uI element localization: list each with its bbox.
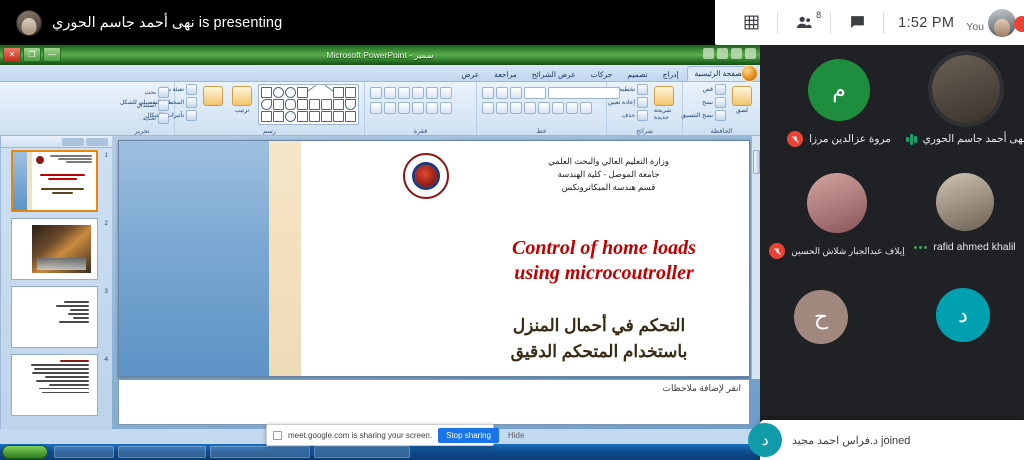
group-label-font: خط	[477, 127, 606, 135]
share-screen-icon	[273, 431, 282, 440]
cut-label: قص	[703, 86, 713, 93]
reset-icon	[637, 97, 648, 108]
quick-styles-icon	[203, 86, 223, 106]
copy-button[interactable]: نسخ	[681, 97, 726, 108]
thumbnail-card	[11, 286, 98, 348]
participant-name-row: نهى أحمد جاسم الحوري	[906, 133, 1024, 145]
ribbon-tabs: الصفحة الرئيسية إدراج تصميم حركات عرض ال…	[0, 65, 760, 82]
participant-tile-4[interactable]: rafid ahmed khalil	[906, 173, 1024, 253]
people-icon[interactable]: 8	[778, 0, 830, 45]
quick-styles-button[interactable]	[200, 84, 226, 115]
join-notification-toast: د د.فراس احمد مجيد joined	[760, 420, 1024, 460]
shapes-gallery[interactable]	[258, 84, 359, 125]
presenter-avatar	[16, 10, 42, 36]
outline-slides-tabs[interactable]	[1, 136, 112, 148]
canvas-scrollbar[interactable]	[751, 136, 760, 379]
avatar: ح	[794, 290, 848, 344]
tab-review[interactable]: مراجعة	[487, 68, 524, 81]
slide-thumbnail-pane: 1 2	[0, 136, 112, 429]
taskbar-item[interactable]	[314, 446, 410, 458]
find-icon	[158, 87, 169, 98]
participant-name: نهى أحمد جاسم الحوري	[923, 133, 1024, 145]
ribbon: لصق قص نسخ	[0, 82, 760, 136]
avatar	[936, 173, 994, 231]
taskbar-item[interactable]	[118, 446, 206, 458]
reset-label: إعادة تعيين	[608, 99, 635, 106]
underline-icon[interactable]	[552, 102, 564, 114]
slide-side-band	[119, 141, 269, 376]
you-label: You	[966, 21, 984, 37]
presenting-label: نهى أحمد جاسم الحوري is presenting	[52, 15, 282, 31]
shadow-icon[interactable]	[538, 102, 550, 114]
group-label-editing: تحرير	[110, 127, 174, 135]
slide-thumbnail-4[interactable]: 4	[11, 354, 108, 416]
format-painter-icon	[715, 110, 726, 121]
bullets-icon[interactable]	[440, 87, 452, 99]
recording-dot	[1014, 16, 1024, 32]
justify-icon[interactable]	[398, 102, 410, 114]
powerpoint-body: وزارة التعليم العالي والبحث العلمي جامعة…	[0, 136, 760, 429]
slide-thumbnail-2[interactable]: 2	[11, 218, 108, 280]
participant-name: مروة عزالدين مرزا	[809, 133, 891, 145]
line-spacing-icon[interactable]	[384, 87, 396, 99]
tab-insert[interactable]: إدراج	[656, 68, 686, 81]
ribbon-group-paragraph: فقرة	[364, 82, 476, 135]
paste-label: لصق	[736, 107, 748, 114]
notes-pane[interactable]: انقر لإضافة ملاحظات	[118, 379, 750, 425]
hide-banner-button[interactable]: Hide	[505, 431, 527, 440]
tab-slideshow[interactable]: عرض الشرائح	[525, 68, 583, 81]
participant-name-row: rafid ahmed khalil	[914, 241, 1015, 253]
thumb-photo	[32, 225, 91, 273]
meeting-time: 1:52 PM	[884, 15, 966, 31]
group-label-clipboard: الحافظة	[683, 127, 760, 135]
avatar-initial: ح	[814, 304, 828, 330]
people-count: 8	[816, 10, 821, 20]
screen-root: نهى أحمد جاسم الحوري is presenting 8	[0, 0, 1024, 460]
slide-canvas-area: وزارة التعليم العالي والبحث العلمي جامعة…	[112, 136, 760, 429]
select-button[interactable]: تحديد	[137, 113, 170, 124]
university-logo-icon	[403, 153, 449, 199]
toast-avatar: د	[748, 423, 782, 457]
slide-header: وزارة التعليم العالي والبحث العلمي جامعة…	[548, 155, 669, 194]
avatar-initial: م	[832, 77, 846, 103]
meet-top-bar: نهى أحمد جاسم الحوري is presenting 8	[0, 0, 1024, 45]
columns-icon[interactable]	[384, 102, 396, 114]
replace-icon	[158, 100, 169, 111]
ribbon-group-font: خط	[476, 82, 606, 135]
redo-icon[interactable]	[717, 48, 728, 59]
find-label: بحث	[145, 89, 156, 96]
slide-thumbnail-1[interactable]: 1	[11, 150, 108, 212]
undo-icon[interactable]	[703, 48, 714, 59]
header-line-3: قسم هندسة الميكاترونكس	[548, 181, 669, 194]
select-label: تحديد	[142, 115, 156, 122]
participants-rail: م مروة عزالدين مرزا نهى أحمد جاسم الحوري…	[760, 45, 1024, 460]
delete-label: حذف	[622, 112, 635, 119]
quick-styles-label	[212, 107, 214, 113]
ribbon-group-drawing: ترتيب تعبئة شكل	[174, 82, 364, 135]
taskbar-item[interactable]	[210, 446, 310, 458]
save-icon[interactable]	[731, 48, 742, 59]
participant-name: إيلاف عبدالجبار شلاش الحسين	[791, 246, 904, 257]
header-line-2: جامعة الموصل - كلية الهندسة	[548, 168, 669, 181]
find-button[interactable]: بحث	[137, 87, 170, 98]
cut-button[interactable]: قص	[681, 84, 726, 95]
align-left-icon[interactable]	[412, 102, 424, 114]
chat-icon[interactable]	[831, 0, 883, 45]
maximize-icon[interactable]: ❐	[23, 47, 41, 62]
avatar: م	[808, 59, 870, 121]
group-label-slides: شرائح	[607, 127, 682, 135]
slide-thumbnail-3[interactable]: 3	[11, 286, 108, 348]
shape-fill-icon	[186, 84, 197, 95]
taskbar-item[interactable]	[54, 446, 114, 458]
ribbon-group-editing: بحث استبدال تحديد تحرير	[110, 82, 174, 135]
thumbnail-card	[11, 354, 98, 416]
powerpoint-window: ✕ ❐ — Microsoft PowerPoint - سمير الصفحة…	[0, 45, 760, 460]
toast-action: joined	[881, 435, 910, 447]
group-label-paragraph: فقرة	[365, 127, 476, 135]
participant-name-row: مروة عزالدين مرزا	[787, 131, 891, 147]
mic-muted-icon	[787, 131, 803, 147]
thumb-logo-icon	[36, 156, 44, 164]
participant-name-row: إيلاف عبدالجبار شلاش الحسين	[769, 243, 904, 259]
participant-tile-5[interactable]: ح	[794, 290, 848, 344]
decrease-indent-icon[interactable]	[412, 87, 424, 99]
tab-view[interactable]: عرض	[454, 68, 486, 81]
participant-tile-2[interactable]: نهى أحمد جاسم الحوري	[908, 55, 1024, 145]
share-banner-text: meet.google.com is sharing your screen.	[288, 431, 432, 440]
arrange-icon	[232, 86, 252, 106]
toast-name: د.فراس احمد مجيد	[792, 435, 878, 447]
header-line-1: وزارة التعليم العالي والبحث العلمي	[548, 155, 669, 168]
bold-icon[interactable]	[580, 102, 592, 114]
thumbnail-number: 2	[101, 218, 108, 227]
participant-tile-1[interactable]: م مروة عزالدين مرزا	[784, 59, 894, 147]
slide-title-english[interactable]: Control of home loads using microcoutrol…	[501, 236, 707, 286]
shape-effects-icon	[186, 110, 197, 121]
avatar-initial: د	[958, 302, 968, 328]
text-direction-icon[interactable]	[370, 87, 382, 99]
ribbon-group-clipboard: لصق قص نسخ	[682, 82, 760, 135]
powerpoint-title-bar: ✕ ❐ — Microsoft PowerPoint - سمير	[0, 45, 760, 65]
slide-content: وزارة التعليم العالي والبحث العلمي جامعة…	[301, 141, 749, 376]
participant-tile-6[interactable]: د	[936, 288, 990, 342]
thumbnail-card	[11, 218, 98, 280]
arrange-button[interactable]: ترتيب	[229, 84, 255, 116]
thumbnail-card	[11, 150, 98, 212]
avatar: د	[936, 288, 990, 342]
new-slide-label: شريحة جديدة	[654, 107, 674, 121]
self-avatar	[988, 9, 1016, 37]
numbering-icon[interactable]	[426, 87, 438, 99]
arrange-label: ترتيب	[235, 107, 249, 114]
delete-slide-button[interactable]: حذف	[608, 110, 648, 121]
new-slide-icon	[654, 86, 674, 106]
avatar	[932, 55, 1000, 123]
thumbnail-number: 4	[101, 354, 108, 363]
self-tile[interactable]: You	[966, 9, 1020, 37]
copy-icon	[715, 97, 726, 108]
avatar	[807, 173, 867, 233]
decrease-font-icon[interactable]	[496, 87, 508, 99]
window-controls: ✕ ❐ —	[3, 47, 61, 62]
convert-smartart-icon[interactable]	[370, 102, 382, 114]
presenting-indicator: نهى أحمد جاسم الحوري is presenting	[0, 10, 282, 36]
close-icon[interactable]: ✕	[3, 47, 21, 62]
cut-icon	[715, 84, 726, 95]
format-painter-button[interactable]: نسخ التنسيق	[681, 110, 726, 121]
new-slide-button[interactable]: شريحة جديدة	[651, 84, 677, 123]
screen-share-banner: meet.google.com is sharing your screen. …	[266, 424, 494, 446]
stop-sharing-button[interactable]: Stop sharing	[438, 428, 499, 443]
speaking-indicator-icon	[906, 133, 917, 145]
select-icon	[158, 113, 169, 124]
increase-font-icon[interactable]	[510, 87, 522, 99]
align-center-icon[interactable]	[426, 102, 438, 114]
mic-muted-icon	[769, 243, 785, 259]
meet-controls: 8 1:52 PM You	[715, 0, 1024, 45]
help-icon[interactable]	[745, 48, 756, 59]
participant-name: rafid ahmed khalil	[933, 241, 1015, 253]
font-color-icon[interactable]	[482, 102, 494, 114]
more-options-icon[interactable]	[914, 246, 927, 249]
copy-label: نسخ	[702, 99, 713, 106]
quick-access-toolbar	[703, 48, 756, 59]
toast-message: د.فراس احمد مجيد joined	[792, 434, 910, 447]
start-button[interactable]	[2, 445, 48, 459]
character-spacing-icon[interactable]	[510, 102, 522, 114]
thumbnail-number: 3	[101, 286, 108, 295]
minimize-icon[interactable]: —	[43, 47, 61, 62]
layout-icon	[637, 84, 648, 95]
replace-button[interactable]: استبدال	[137, 100, 170, 111]
current-slide[interactable]: وزارة التعليم العالي والبحث العلمي جامعة…	[118, 140, 750, 377]
window-title: Microsoft PowerPoint - سمير	[326, 50, 433, 61]
tab-animations[interactable]: حركات	[584, 68, 620, 81]
slide-title-arabic[interactable]: التحكم في أحمال المنزل باستخدام المتحكم …	[491, 313, 707, 365]
paste-icon	[732, 86, 752, 106]
replace-label: استبدال	[137, 102, 157, 109]
group-label-drawing: رسم	[175, 127, 364, 135]
clear-formatting-icon[interactable]	[482, 87, 494, 99]
align-right-icon[interactable]	[440, 102, 452, 114]
participant-tile-3[interactable]: إيلاف عبدالجبار شلاش الحسين	[772, 173, 902, 259]
slide-accent-strip	[269, 141, 301, 376]
italic-icon[interactable]	[566, 102, 578, 114]
paste-button[interactable]: لصق	[729, 84, 755, 116]
thumbnail-number: 1	[101, 150, 108, 159]
shared-screen: ✕ ❐ — Microsoft PowerPoint - سمير الصفحة…	[0, 45, 760, 460]
tab-design[interactable]: تصميم	[620, 68, 654, 81]
font-family-input[interactable]	[548, 87, 620, 99]
format-painter-label: نسخ التنسيق	[681, 112, 713, 119]
shape-outline-icon	[186, 97, 197, 108]
increase-indent-icon[interactable]	[398, 87, 410, 99]
delete-icon	[637, 110, 648, 121]
grid-layout-icon[interactable]	[725, 0, 777, 45]
office-button-icon[interactable]	[741, 65, 758, 82]
windows-taskbar	[0, 444, 760, 460]
change-case-icon[interactable]	[496, 102, 508, 114]
font-size-input[interactable]	[524, 87, 546, 99]
strikethrough-icon[interactable]	[524, 102, 536, 114]
